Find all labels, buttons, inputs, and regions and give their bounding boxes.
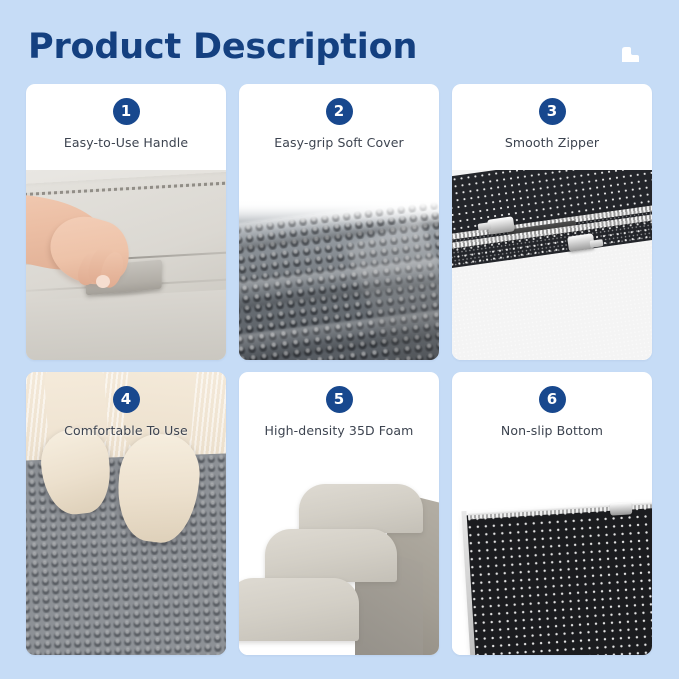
feature-card-2[interactable]: 2 Easy-grip Soft Cover [239,84,439,360]
badge-number-1: 1 [113,98,140,125]
card-3-label: Smooth Zipper [452,135,652,150]
feature-card-6[interactable]: 6 Non-slip Bottom [452,372,652,655]
soft-cover-photo [239,170,439,360]
card-3-header: 3 Smooth Zipper [452,84,652,150]
badge-number-5: 5 [326,386,353,413]
badge-number-2: 2 [326,98,353,125]
header: Product Description [0,0,679,82]
card-2-label: Easy-grip Soft Cover [239,135,439,150]
card-2-header: 2 Easy-grip Soft Cover [239,84,439,150]
feature-card-3[interactable]: 3 Smooth Zipper [452,84,652,360]
feature-card-4[interactable]: 4 Comfortable To Use [26,372,226,655]
foam-steps-photo [239,458,439,655]
zipper-photo [452,170,652,360]
badge-number-3: 3 [539,98,566,125]
card-6-header: 6 Non-slip Bottom [452,372,652,438]
non-slip-bottom-photo [452,458,652,655]
card-5-header: 5 High-density 35D Foam [239,372,439,438]
card-5-label: High-density 35D Foam [239,423,439,438]
card-1-header: 1 Easy-to-Use Handle [26,84,226,150]
page-title: Product Description [28,27,417,67]
feature-card-5[interactable]: 5 High-density 35D Foam [239,372,439,655]
feature-card-1[interactable]: 1 Easy-to-Use Handle [26,84,226,360]
handle-photo [26,170,226,360]
stairs-icon [620,43,644,63]
card-6-label: Non-slip Bottom [452,423,652,438]
feature-card-grid: 1 Easy-to-Use Handle 2 Easy-grip Soft Co… [26,84,653,655]
comfort-paws-photo [26,372,226,655]
badge-number-6: 6 [539,386,566,413]
card-1-label: Easy-to-Use Handle [26,135,226,150]
